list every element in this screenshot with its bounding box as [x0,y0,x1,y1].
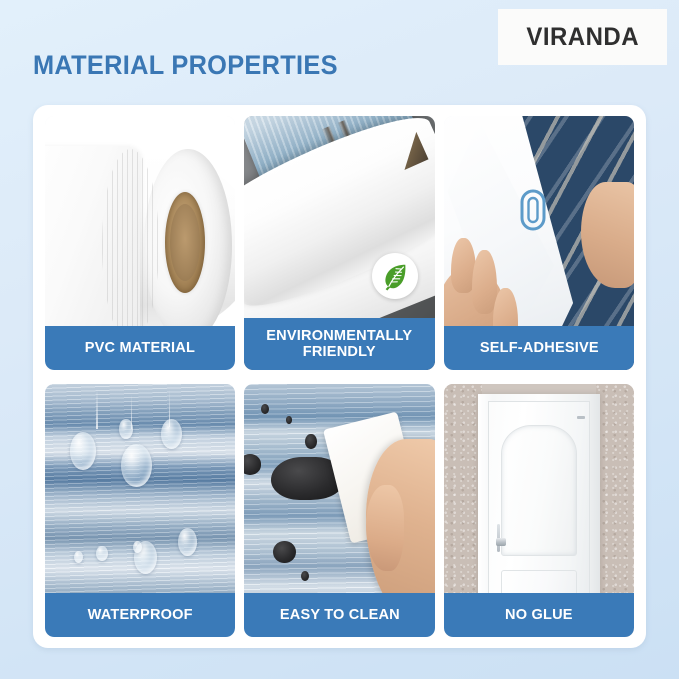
feature-card-easy-to-clean[interactable]: EASY TO CLEAN [244,384,434,638]
droplet-trail [96,389,98,430]
leaf-badge [372,253,418,299]
door-hinge [577,416,586,420]
feature-label-bar: NO GLUE [444,593,634,637]
page-title: MATERIAL PROPERTIES [33,50,338,81]
feature-label-text: ENVIRONMENTALLY FRIENDLY [266,328,412,360]
stain-mark [286,416,292,424]
feature-label-bar: ENVIRONMENTALLY FRIENDLY [244,318,434,370]
feature-card-waterproof[interactable]: WATERPROOF [45,384,235,638]
feature-label-bar: WATERPROOF [45,593,235,637]
leaf-icon [380,261,410,291]
feature-panel: PVC MATERIAL [33,105,646,648]
feature-card-environmentally-friendly[interactable]: ENVIRONMENTALLY FRIENDLY [244,116,434,370]
feature-label-text: NO GLUE [505,607,573,623]
feature-label-text: SELF-ADHESIVE [479,340,598,356]
stain-mark [305,434,316,449]
brand-logo-text: VIRANDA [526,23,639,52]
feature-label-text: EASY TO CLEAN [279,607,399,623]
feature-card-no-glue[interactable]: NO GLUE [444,384,634,638]
brand-logo: VIRANDA [498,9,667,65]
feature-card-self-adhesive[interactable]: SELF-ADHESIVE [444,116,634,370]
finger-2 [472,250,497,313]
water-droplet [121,444,151,487]
paperclip-badge [518,187,548,233]
door-panel-top [501,425,577,556]
feature-label-bar: SELF-ADHESIVE [444,326,634,370]
roll-core-inner [170,204,200,281]
door-handle [496,538,506,546]
water-droplet [119,419,132,439]
feature-label-bar: EASY TO CLEAN [244,593,434,637]
feature-card-pvc-material[interactable]: PVC MATERIAL [45,116,235,370]
water-droplet [96,546,107,561]
feature-label-text: PVC MATERIAL [85,340,195,356]
roll-cardboard-core [165,192,205,293]
stain-mark [273,541,296,564]
roll-layer-rings [102,149,159,342]
infographic-root: VIRANDA MATERIAL PROPERTIES PVC MATERIAL [0,0,679,679]
feature-label-text: WATERPROOF [88,607,193,623]
stain-mark [261,404,269,414]
thumb [366,485,404,571]
feature-card-grid: PVC MATERIAL [45,116,634,637]
feature-label-bar: PVC MATERIAL [45,326,235,370]
water-droplet [70,432,97,470]
paperclip-icon [518,187,548,233]
